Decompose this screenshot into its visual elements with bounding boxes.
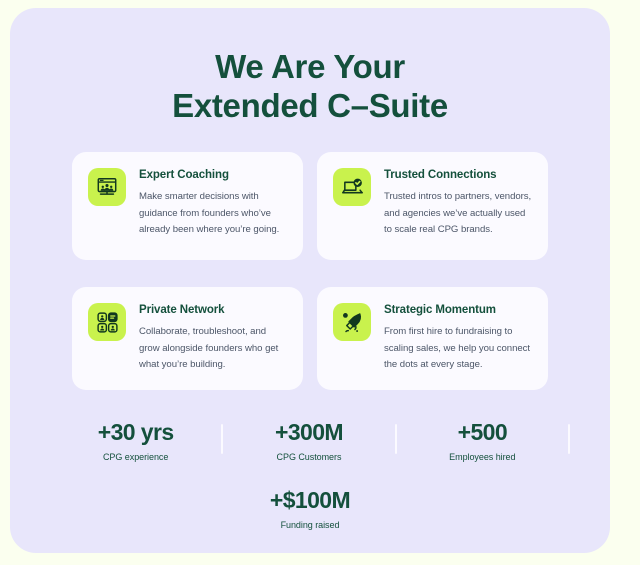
stat-label: Employees hired <box>401 452 564 463</box>
feature-card-title: Strategic Momentum <box>384 304 532 318</box>
stat-label: CPG Customers <box>227 452 390 463</box>
stat-label: Funding raised <box>10 520 610 531</box>
feature-card-text: Expert Coaching Make smarter decisions w… <box>139 168 287 238</box>
page-title-line-1: We Are Your <box>70 48 550 87</box>
hero-panel: We Are Your Extended C–Suite <box>10 8 610 553</box>
feature-card-strategic-momentum: Strategic Momentum From first hire to fu… <box>317 287 548 389</box>
stat-employees-hired: +500 Employees hired <box>397 420 568 463</box>
stat-label: CPG experience <box>54 452 217 463</box>
presentation-people-icon <box>88 168 126 206</box>
rocket-launch-icon <box>333 303 371 341</box>
stat-divider <box>568 424 570 454</box>
stat-cpg-customers: +300M CPG Customers <box>223 420 394 463</box>
stats-row: +30 yrs CPG experience +300M CPG Custome… <box>10 390 610 463</box>
feature-card-description: Trusted intros to partners, vendors, and… <box>384 189 532 239</box>
stat-value: +300M <box>227 420 390 445</box>
feature-card-description: Make smarter decisions with guidance fro… <box>139 189 287 239</box>
page-title: We Are Your Extended C–Suite <box>10 8 610 125</box>
stat-funding-raised: +$100M Funding raised <box>10 463 610 531</box>
feature-card-expert-coaching: Expert Coaching Make smarter decisions w… <box>72 152 303 260</box>
laptop-verified-badge-icon <box>333 168 371 206</box>
feature-card-grid-row-2: Private Network Collaborate, troubleshoo… <box>10 260 610 389</box>
stat-value: +$100M <box>10 488 610 513</box>
stat-cpg-experience: +30 yrs CPG experience <box>50 420 221 463</box>
feature-card-text: Private Network Collaborate, troubleshoo… <box>139 303 287 373</box>
feature-card-description: Collaborate, troubleshoot, and grow alon… <box>139 324 287 374</box>
stat-value: +500 <box>401 420 564 445</box>
feature-card-grid-row-1: Expert Coaching Make smarter decisions w… <box>10 125 610 260</box>
feature-card-title: Trusted Connections <box>384 169 532 183</box>
people-grid-chat-icon <box>88 303 126 341</box>
feature-card-trusted-connections: Trusted Connections Trusted intros to pa… <box>317 152 548 260</box>
feature-card-title: Expert Coaching <box>139 169 287 183</box>
feature-card-title: Private Network <box>139 304 287 318</box>
feature-card-private-network: Private Network Collaborate, troubleshoo… <box>72 287 303 389</box>
feature-card-text: Strategic Momentum From first hire to fu… <box>384 303 532 373</box>
page-title-line-2: Extended C–Suite <box>70 87 550 126</box>
feature-card-description: From first hire to fundraising to scalin… <box>384 324 532 374</box>
feature-card-text: Trusted Connections Trusted intros to pa… <box>384 168 532 238</box>
stat-value: +30 yrs <box>54 420 217 445</box>
